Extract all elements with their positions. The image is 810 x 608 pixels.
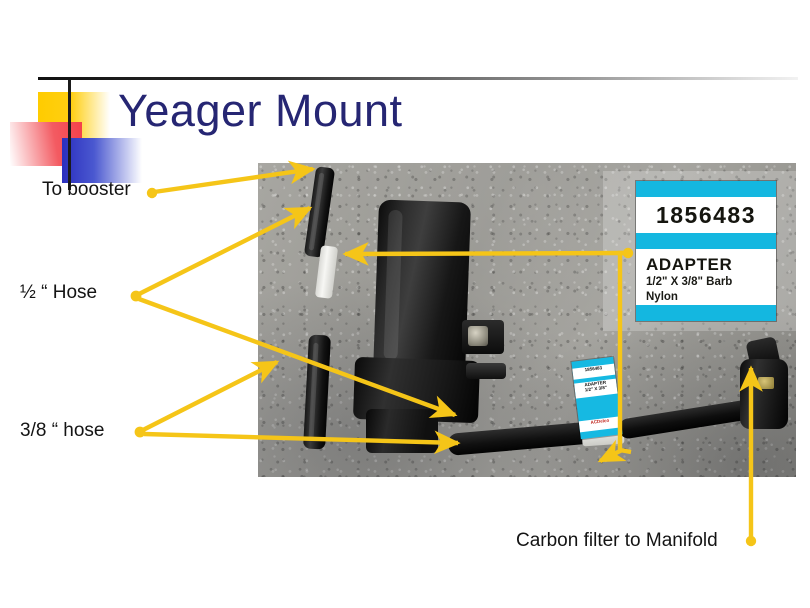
mini-label-title-row: ADAPTER 1/2" X 3/8" <box>574 379 618 399</box>
callout-carbon-filter: Carbon filter to Manifold <box>516 529 718 553</box>
label-band-middle <box>636 233 776 249</box>
mini-label-brand-row: ACDelco <box>579 416 622 432</box>
label-band-bottom <box>636 305 776 321</box>
vertical-rule-icon <box>68 78 71 190</box>
pump-lower-fitting <box>366 409 438 453</box>
carbon-filter-brass-fitting <box>758 377 774 389</box>
title-underline-rule <box>38 77 798 80</box>
slide-canvas: Yeager Mount 1856483 ADAPTER 1/2" X 3/8" <box>0 0 810 608</box>
label-title: ADAPTER <box>646 255 766 275</box>
mini-label-brand: ACDelco <box>579 416 621 426</box>
carbon-filter-valve <box>740 359 788 429</box>
label-part-number: 1856483 <box>636 197 776 233</box>
blue-square-icon <box>62 138 142 183</box>
label-material: Nylon <box>646 290 766 305</box>
pump-barb-nipple <box>466 363 506 379</box>
vacuum-pump-assembly-photo: 1856483 ADAPTER 1/2" X 3/8" ACDelco 1856… <box>258 163 796 477</box>
black-vacuum-pump-canister <box>373 199 471 377</box>
callout-half-inch-hose: ½ “ Hose <box>20 281 97 305</box>
label-body: ADAPTER 1/2" X 3/8" Barb Nylon <box>636 249 776 305</box>
callout-three-eighths-hose: 3/8 “ hose <box>20 419 105 443</box>
mini-label-part-number: 1856483 <box>572 364 614 374</box>
callout-to-booster: To booster <box>42 178 131 202</box>
label-band-top <box>636 181 776 197</box>
mini-label-number-row: 1856483 <box>572 364 615 380</box>
adapter-part-label: 1856483 ADAPTER 1/2" X 3/8" Barb Nylon <box>636 181 776 321</box>
page-title: Yeager Mount <box>118 84 403 138</box>
label-spec: 1/2" X 3/8" Barb <box>646 275 766 290</box>
bracket-bolt-icon <box>468 326 488 346</box>
